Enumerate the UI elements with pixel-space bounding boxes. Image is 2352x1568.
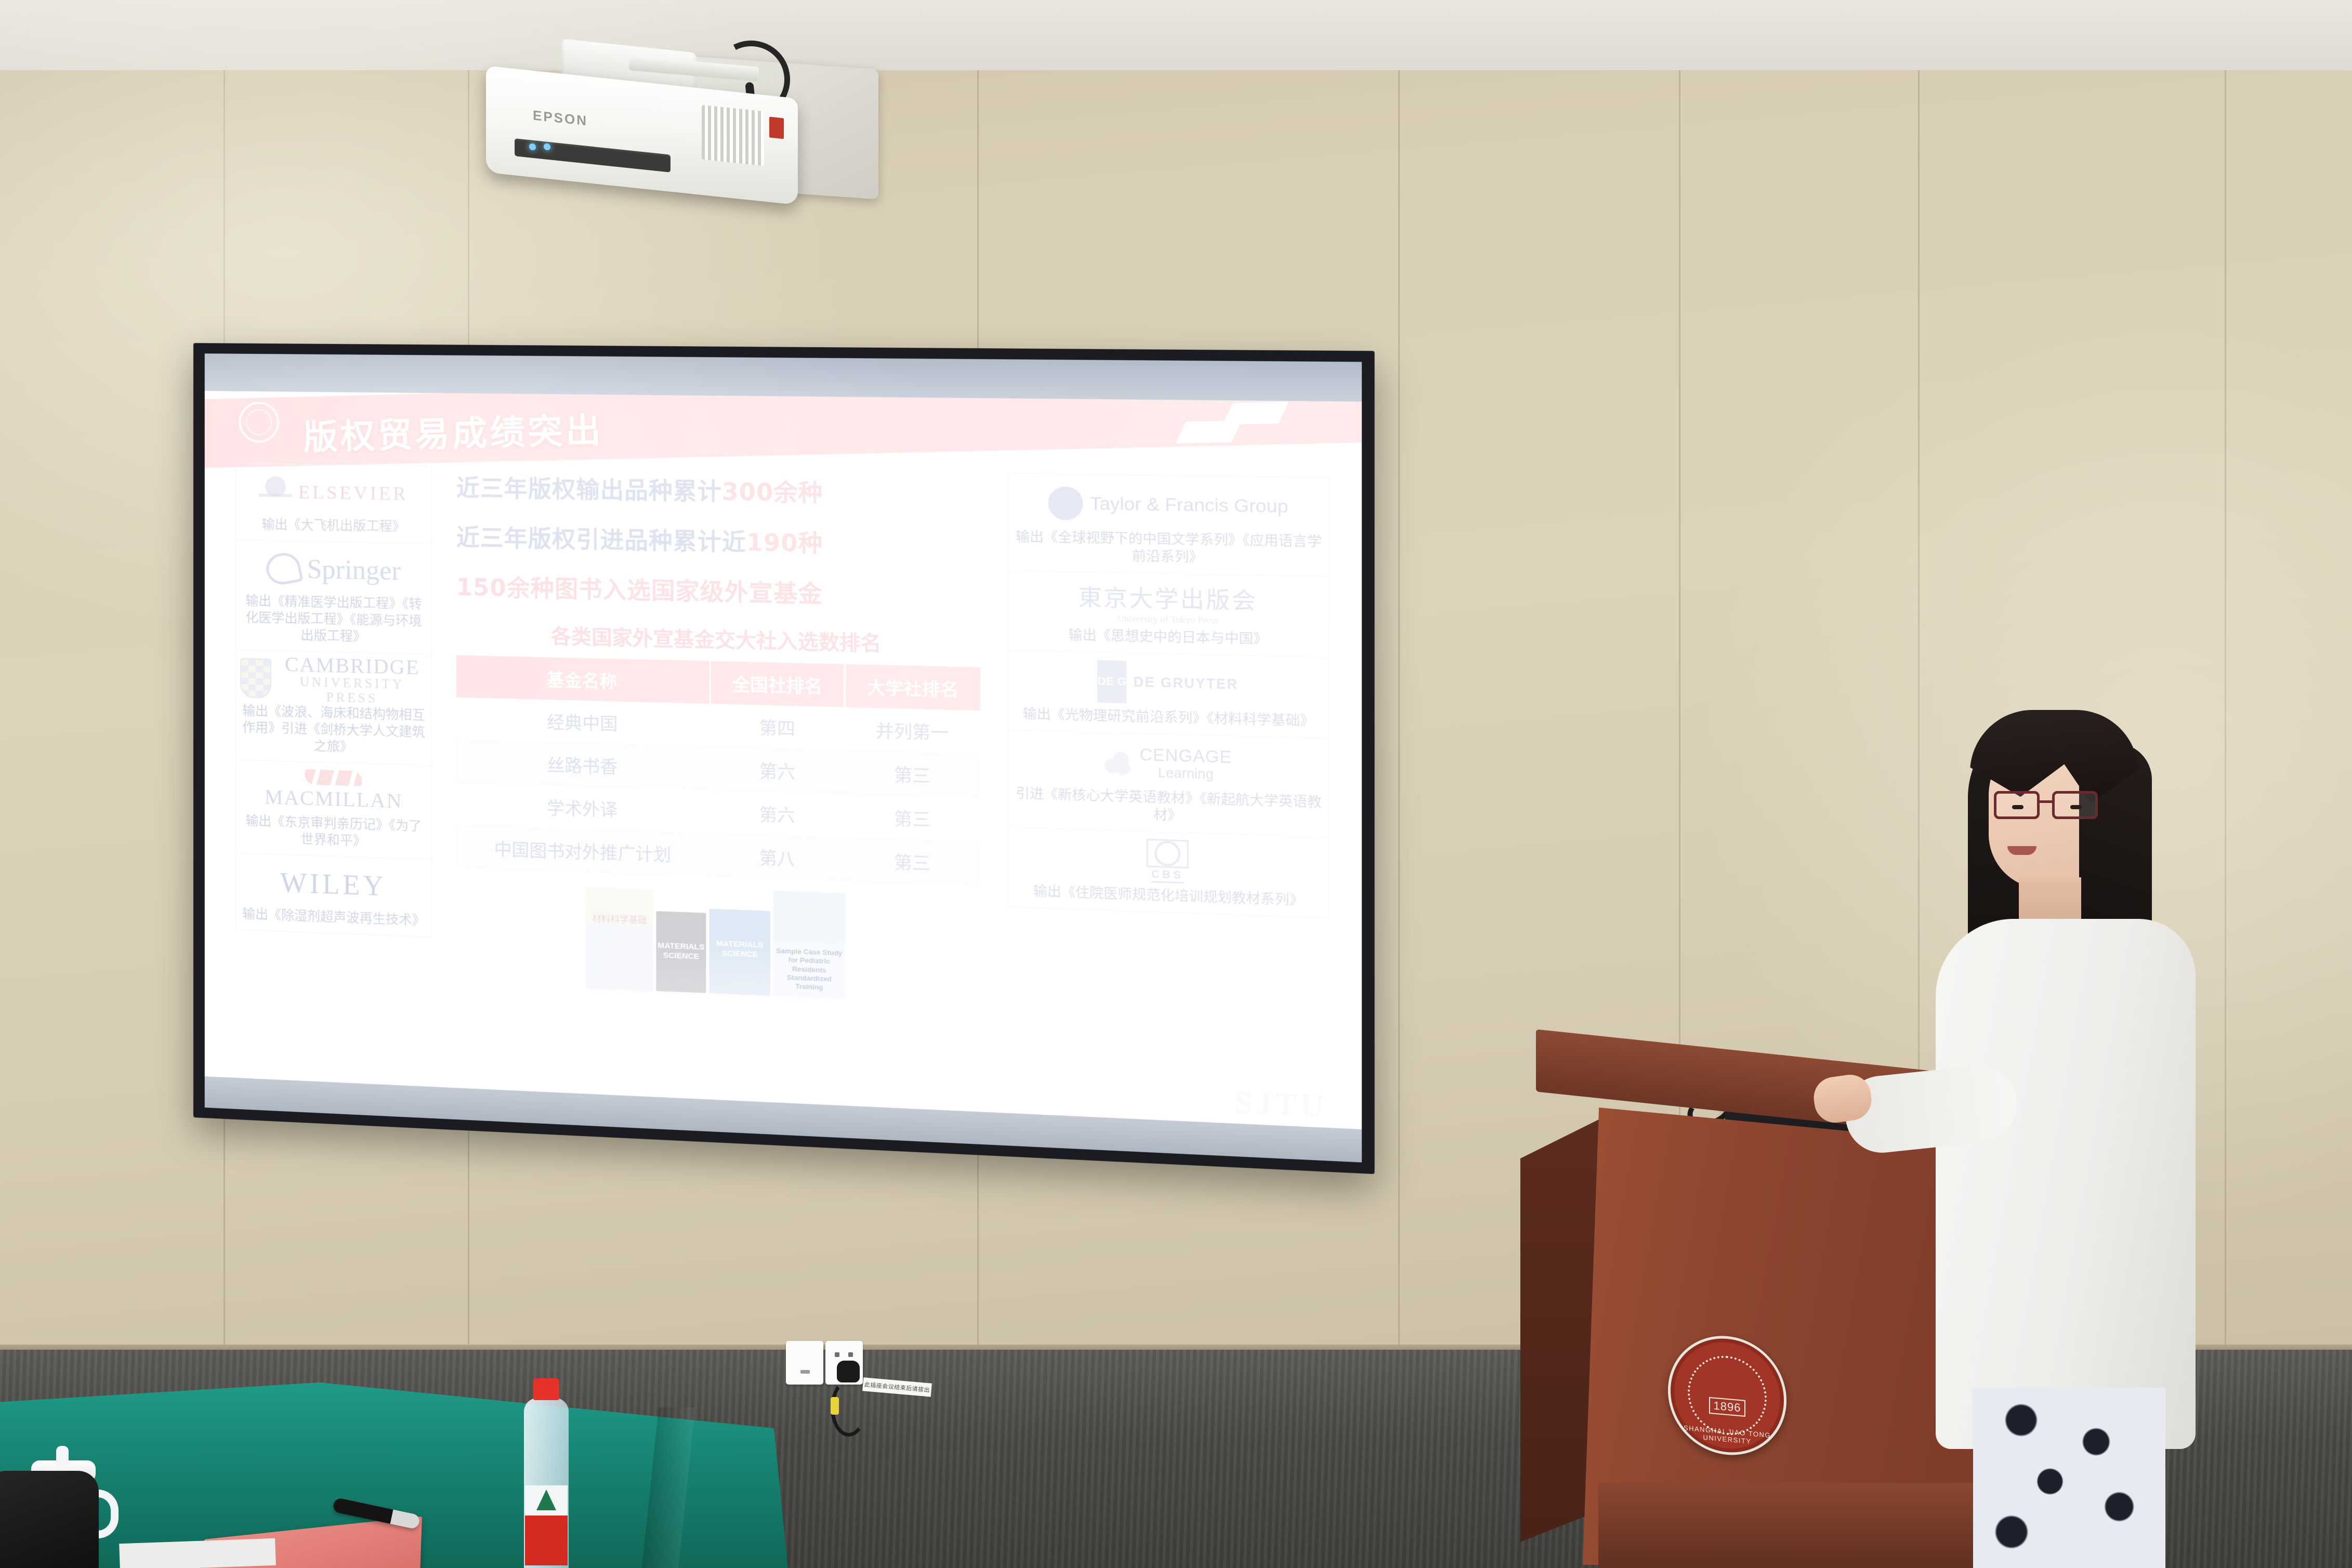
macmillan-logo: MACMILLAN — [240, 768, 427, 814]
highlight-number: 300 — [722, 479, 774, 507]
publisher-caption: 输出《大飞机出版工程》 — [240, 511, 427, 536]
left-publisher-column: ELSEVIER 输出《大飞机出版工程》 Springer 输出《精准医学出版工… — [205, 457, 441, 1087]
publisher-cell-cbs: CBS 输出《住院医师规范化培训规划教材系列》 — [1009, 827, 1329, 918]
table-header-cell: 大学社排名 — [845, 664, 980, 710]
cbs-mark-icon — [1147, 839, 1189, 868]
socket-pin-hole — [835, 1352, 839, 1357]
cord-yellow-tip — [831, 1397, 839, 1415]
publisher-caption: 输出《东京审判亲历记》《为了世界和平》 — [240, 808, 427, 853]
slide-title: 版权贸易成绩突出 — [303, 402, 605, 460]
bottle-mountain-icon — [536, 1490, 556, 1510]
taylor-francis-logo: Taylor & Francis Group — [1013, 481, 1324, 529]
cengage-subwordmark: Learning — [1158, 765, 1214, 782]
socket-pin-hole — [848, 1352, 853, 1357]
bottle-cap — [533, 1378, 559, 1400]
table-cell: 第六 — [710, 790, 845, 838]
cambridge-logo: CAMBRIDGE UNIVERSITY PRESS — [240, 657, 427, 703]
mug-lid-knob — [56, 1446, 69, 1466]
eyeglass-lens-left — [1994, 791, 2040, 819]
cengage-dots-icon — [1103, 747, 1133, 776]
presenter-patterned-skirt — [1973, 1388, 2165, 1568]
screen-surface: 版权贸易成绩突出 ELSEVIER 输出《大飞机出版工程》 — [205, 353, 1362, 1162]
book-cover-gallery: 材料科学基础 MATERIALS SCIENCE MATERIALS SCIEN… — [456, 880, 980, 1004]
presenter-person — [1923, 712, 2214, 1568]
table-cell: 第四 — [710, 704, 845, 750]
ceiling — [0, 0, 2352, 70]
table-cell: 第三 — [845, 838, 980, 886]
right-publisher-table: Taylor & Francis Group 输出《全球视野下的中国文学系列》《… — [1008, 473, 1330, 918]
foreground-table — [0, 1362, 811, 1568]
publisher-caption: 输出《精准医学出版工程》《转化医学出版工程》《能源与环境出版工程》 — [240, 588, 427, 648]
wall-panel-seam — [1398, 68, 1400, 1367]
highlight-line-3: 150余种图书入选国家级外宣基金 — [456, 568, 980, 612]
table-cell: 经典中国 — [456, 697, 710, 747]
highlight-line-1: 近三年版权输出品种累计300余种 — [456, 469, 980, 511]
book-cover-materials-science-blue: MATERIALS SCIENCE — [709, 909, 770, 996]
table-cell: 第八 — [710, 833, 845, 881]
publisher-cell-de-gruyter: DE G DE GRUYTER 输出《光物理研究前沿系列》《材料科学基础》 — [1009, 651, 1329, 739]
highlight-number: 190 — [746, 529, 798, 557]
presenter-eye — [2070, 805, 2082, 809]
de-gruyter-wordmark: DE GRUYTER — [1134, 674, 1239, 692]
wall-panel-seam — [2225, 68, 2226, 1367]
water-bottle[interactable] — [520, 1378, 572, 1568]
chair-back — [0, 1471, 99, 1568]
table-header-cell: 基金名称 — [456, 655, 710, 704]
cambridge-wordmark-group: CAMBRIDGE UNIVERSITY PRESS — [278, 654, 427, 708]
table-caption: 各类国家外宣基金交大社入选数排名 — [456, 618, 980, 659]
book-title-en: MATERIALS SCIENCE — [656, 911, 706, 962]
book-title-en: Sample Case Study for Pediatric Resident… — [773, 891, 845, 993]
presenter-eye — [2012, 805, 2023, 809]
book-cover-materials-science-dark: MATERIALS SCIENCE — [656, 911, 706, 993]
tokyo-press-subwordmark: University of Tokyo Press — [1117, 613, 1218, 626]
bottle-label-red — [525, 1516, 568, 1565]
book-cover-cailiao: 材料科学基础 — [586, 887, 653, 991]
publisher-cell-tokyo-university-press: 東京大学出版会 University of Tokyo Press 输出《思想史… — [1009, 571, 1329, 657]
table-cell: 第三 — [845, 794, 980, 842]
springer-logo: Springer — [240, 548, 427, 592]
slide-body-grid: ELSEVIER 输出《大飞机出版工程》 Springer 输出《精准医学出版工… — [205, 457, 1362, 1129]
conference-room: EPSON 版权贸易成绩突出 — [0, 0, 2352, 1568]
publisher-caption: 引进《新核心大学英语教材》《新起航大学英语教材》 — [1013, 780, 1324, 830]
presenter-eyeglasses — [1994, 791, 2101, 820]
macmillan-wordmark: MACMILLAN — [265, 784, 403, 813]
book-title-en: MATERIALS SCIENCE — [709, 909, 770, 960]
papers-on-table — [119, 1538, 276, 1568]
cbs-wordmark: CBS — [1151, 868, 1184, 884]
publisher-cell-cengage: CENGAGE Learning 引进《新核心大学英语教材》《新起航大学英语教材… — [1009, 730, 1329, 837]
highlight-suffix: 余种 — [773, 479, 823, 507]
projector-vent-grille — [702, 105, 764, 166]
eyeglass-lens-right — [2052, 791, 2098, 819]
publisher-cell-elsevier: ELSEVIER 输出《大飞机出版工程》 — [236, 464, 431, 544]
cambridge-shield-icon — [240, 658, 271, 699]
taylor-francis-wordmark: Taylor & Francis Group — [1090, 493, 1289, 518]
highlight-line-2: 近三年版权引进品种累计近190种 — [456, 519, 980, 562]
elsevier-logo: ELSEVIER — [240, 471, 427, 515]
presentation-slide: 版权贸易成绩突出 ELSEVIER 输出《大飞机出版工程》 — [205, 391, 1362, 1129]
slide-decoration-parallelogram — [1223, 402, 1289, 425]
table-cell: 中国图书对外推广计划 — [456, 825, 710, 877]
elsevier-tree-icon — [259, 475, 292, 509]
highlight-number: 150 — [456, 574, 507, 602]
presenter-white-jacket — [1936, 919, 2196, 1449]
book-title-cn: 材料科学基础 — [586, 887, 653, 926]
seal-inner-ring — [245, 409, 272, 436]
fund-ranking-table: 基金名称 全国社排名 大学社排名 经典中国 第四 并列第一 — [456, 655, 980, 886]
presenter-mouth — [2007, 846, 2036, 855]
elsevier-wordmark: ELSEVIER — [298, 481, 408, 505]
tokyo-press-wordmark: 東京大学出版会 — [1078, 579, 1257, 616]
publisher-cell-taylor-francis: Taylor & Francis Group 输出《全球视野下的中国文学系列》《… — [1009, 474, 1329, 577]
right-publisher-column: Taylor & Francis Group 输出《全球视野下的中国文学系列》《… — [997, 468, 1362, 1129]
highlight-prefix: 近三年版权引进品种累计近 — [456, 524, 746, 557]
highlight-suffix: 余种图书入选国家级外宣基金 — [507, 575, 823, 608]
de-gruyter-logo: DE G DE GRUYTER — [1013, 658, 1324, 708]
publisher-cell-springer: Springer 输出《精准医学出版工程》《转化医学出版工程》《能源与环境出版工… — [236, 540, 431, 654]
table-cell: 第六 — [710, 747, 845, 794]
book-cover-pediatric: Sample Case Study for Pediatric Resident… — [773, 891, 845, 999]
table-header-cell: 全国社排名 — [710, 661, 845, 707]
highlight-prefix: 近三年版权输出品种累计 — [456, 475, 722, 506]
springer-wordmark: Springer — [307, 554, 401, 586]
left-publisher-table: ELSEVIER 输出《大飞机出版工程》 Springer 输出《精准医学出版工… — [235, 463, 432, 937]
wiley-wordmark: WILEY — [280, 866, 387, 903]
projector-warning-label — [769, 117, 784, 139]
projection-screen[interactable]: 版权贸易成绩突出 ELSEVIER 输出《大飞机出版工程》 — [193, 343, 1375, 1174]
publisher-cell-wiley: WILEY 输出《除湿剂超声波再生技术》 — [236, 853, 431, 937]
table-cell: 并列第一 — [845, 707, 980, 754]
table-cell: 第三 — [845, 750, 980, 798]
taylor-francis-lamp-icon — [1048, 486, 1083, 521]
projector-status-led — [544, 143, 550, 150]
emblem-year: 1896 — [1709, 1397, 1746, 1417]
publisher-caption: 输出《波浪、海床和结构物相互作用》引进《剑桥大学人文建筑之旅》 — [240, 698, 427, 759]
eyeglass-bridge — [2040, 800, 2053, 803]
macmillan-m-icon — [305, 769, 362, 786]
publisher-caption: 输出《全球视野下的中国文学系列》《应用语言学前沿系列》 — [1013, 524, 1324, 570]
table-cell: 学术外译 — [456, 783, 710, 834]
springer-horse-icon — [264, 550, 304, 587]
center-statistics-column: 近三年版权输出品种累计300余种 近三年版权引进品种累计近190种 150余种图… — [440, 460, 997, 1113]
projector-power-led — [529, 143, 536, 150]
publisher-cell-cambridge: CAMBRIDGE UNIVERSITY PRESS 输出《波浪、海床和结构物相… — [236, 650, 431, 766]
cbs-inner-circle — [1154, 840, 1180, 866]
table-cell: 丝路书香 — [456, 740, 710, 790]
de-gruyter-mark-icon: DE G — [1097, 660, 1127, 703]
slide-watermark: SJTU — [1234, 1085, 1327, 1125]
ceiling-mounted-projector: EPSON — [457, 16, 894, 203]
highlight-suffix: 种 — [798, 530, 823, 558]
cengage-wordmark: CENGAGE — [1140, 745, 1232, 767]
cengage-wordmark-group: CENGAGE Learning — [1140, 745, 1232, 783]
cambridge-subwordmark: UNIVERSITY PRESS — [300, 675, 404, 706]
publisher-cell-macmillan: MACMILLAN 输出《东京审判亲历记》《为了世界和平》 — [236, 760, 431, 860]
tokyo-university-press-logo: 東京大学出版会 University of Tokyo Press — [1013, 578, 1324, 627]
sjtu-emblem-icon: 1896 SHANGHAI JIAO TONG UNIVERSITY — [1668, 1331, 1786, 1460]
wiley-logo: WILEY — [240, 861, 427, 908]
